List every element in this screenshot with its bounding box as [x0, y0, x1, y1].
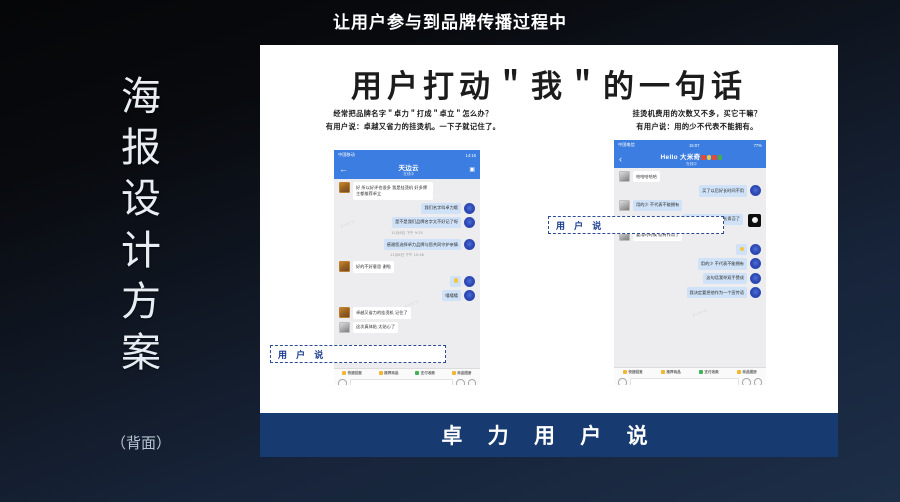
- toolbar-label: 商品图册: [457, 371, 471, 376]
- toolbar-item-catalog[interactable]: 商品图册: [737, 370, 757, 375]
- message-input-right[interactable]: [630, 378, 740, 385]
- brand-avatar: [464, 203, 475, 214]
- message-text: 用的少 不代表不能拥有: [633, 200, 682, 211]
- message-text: 是不是我们品牌名字太不好记了呀: [392, 217, 461, 228]
- toolbar-label: 快捷回复: [628, 370, 642, 375]
- chat-area-right: 卓力用户说 卓力用户说 哈哈哈哈哈 买了以后好长时间不用 用的少 不代表不能拥有…: [614, 171, 766, 367]
- message-text: 用的少 不代表不能拥有: [698, 258, 747, 269]
- caption-right-line1: 挂烫机费用的次数又不多，买它干嘛？: [572, 107, 822, 120]
- chat-message-row: 买了以后好长时间不用: [619, 185, 761, 196]
- emoji-icon[interactable]: [742, 378, 751, 385]
- chat-message-row: 这句话我举双手赞成: [619, 273, 761, 284]
- vertical-title-char: 计: [96, 226, 186, 277]
- status-carrier: 中国移动: [338, 152, 355, 158]
- callout-right: 用 户 说: [548, 216, 724, 234]
- brand-avatar: [464, 290, 475, 301]
- message-text: 好 所以好评也很多 我是挂烫机 好多博主都推荐卓立: [353, 182, 433, 200]
- voice-icon[interactable]: [618, 378, 627, 385]
- toolbar-label: 支付收款: [704, 370, 718, 375]
- message-text: 好的不好意思 谢啦: [353, 261, 394, 272]
- chat-toolbar-left: 快捷回复 推荐商品 支付收款 商品图册: [334, 368, 480, 377]
- user-avatar: [339, 261, 350, 272]
- status-time: 14:16: [466, 153, 476, 158]
- book-emoji-icon: [707, 155, 712, 160]
- brand-avatar: [464, 239, 475, 250]
- toolbar-label: 商品图册: [742, 370, 756, 375]
- message-text: 哈哈哈哈哈: [633, 171, 660, 182]
- vertical-title-char: 报: [96, 123, 186, 174]
- message-text: 我们名字叫卓力哦: [421, 203, 461, 214]
- toolbar-label: 推荐商品: [384, 371, 398, 376]
- message-text: 我决定要把他作为一个宣传语: [687, 287, 747, 298]
- message-text: 这句话我举双手赞成: [703, 273, 747, 284]
- chat-message-row: 用的少 不代表不能拥有: [619, 258, 761, 269]
- brand-avatar: [750, 287, 761, 298]
- caption-left-line2: 有用户说：卓越又省力的挂烫机。一下子就记住了。: [282, 120, 544, 133]
- brand-avatar: [750, 185, 761, 196]
- toolbar-label: 快捷回复: [348, 371, 362, 376]
- message-text: 买了以后好长时间不用: [699, 185, 747, 196]
- toolbar-item-recommend[interactable]: 推荐商品: [661, 370, 681, 375]
- message-timestamp: 11月6日 下午 10:46: [334, 253, 480, 258]
- message-text: 这次真体贴 太贴心了: [353, 322, 398, 333]
- heart-emoji-icon: [718, 155, 723, 160]
- chat-message-row-highlighted: 用的少 不代表不能拥有: [619, 200, 761, 211]
- slide-heading: 让用户参与到品牌传播过程中: [0, 8, 900, 33]
- chat-message-row: 好的不好意思 谢啦: [339, 261, 475, 272]
- chat-title-left: 天边云: [348, 162, 469, 172]
- voice-icon[interactable]: [338, 379, 347, 385]
- caption-right: 挂烫机费用的次数又不多，买它干嘛？ 有用户说：用的少不代表不能拥有。: [572, 107, 822, 134]
- chat-message-row-highlighted: 卓越又省力的挂烫机 记住了: [339, 307, 475, 318]
- chat-title-text: Hello 大米奇: [661, 154, 701, 161]
- chat-message-row: 感谢您选择卓力品牌与您共同守护亲情: [339, 239, 475, 250]
- nav-bar-left: ← 天边云 在线中 ▣: [334, 160, 480, 179]
- status-battery: 77%: [754, 143, 762, 148]
- toolbar-item-quick-reply[interactable]: 快捷回复: [623, 370, 643, 375]
- ribbon-emoji-icon: [712, 155, 717, 160]
- chat-message-row: 哈哈哈哈哈: [619, 171, 761, 182]
- brand-avatar: [750, 273, 761, 284]
- user-avatar: [619, 200, 630, 211]
- caption-right-line2: 有用户说：用的少不代表不能拥有。: [572, 120, 822, 133]
- brand-avatar: [464, 276, 475, 287]
- gray-avatar: [339, 322, 350, 333]
- user-avatar: [619, 171, 630, 182]
- callout-label: 用 户 说: [271, 348, 333, 361]
- toolbar-label: 推荐商品: [666, 370, 680, 375]
- chat-area-left: 卓力用户说 卓力用户说 好 所以好评也很多 我是挂烫机 好多博主都推荐卓立 我们…: [334, 182, 480, 368]
- poster-panel: 用户打动＂我＂的一句话 经常把品牌名字＂卓力＂打成＂卓立＂怎么办？ 有用户说：卓…: [260, 45, 838, 413]
- message-timestamp: 11月6日 下午 9:25: [334, 231, 480, 236]
- user-avatar: [339, 307, 350, 318]
- photo-thumb[interactable]: [748, 214, 761, 227]
- chat-message-row: 这次真体贴 太贴心了: [339, 322, 475, 333]
- vertical-title-char: 方: [96, 277, 186, 328]
- video-icon[interactable]: ▣: [469, 166, 475, 173]
- chat-message-row: 我决定要把他作为一个宣传语: [619, 287, 761, 298]
- phone-screenshot-right: 中国电信 15:07 77% ‹ Hello 大米奇 在线中 卓力用户说 卓力用…: [614, 140, 766, 385]
- poster-title: 用户打动＂我＂的一句话: [260, 61, 838, 106]
- chat-toolbar-right: 快捷回复 推荐商品 支付收款 商品图册: [614, 367, 766, 376]
- message-text: 感谢您选择卓力品牌与您共同守护亲情: [384, 239, 461, 250]
- toolbar-item-recommend[interactable]: 推荐商品: [379, 371, 399, 376]
- poster-footer-text: 卓 力 用 户 说: [441, 420, 656, 450]
- vertical-title-char: 案: [96, 328, 186, 379]
- slide-root: 让用户参与到品牌传播过程中 海 报 设 计 方 案 （背面） 用户打动＂我＂的一…: [0, 0, 900, 502]
- brand-avatar: [750, 258, 761, 269]
- toolbar-item-catalog[interactable]: 商品图册: [452, 371, 472, 376]
- add-icon[interactable]: [468, 379, 477, 385]
- message-input-left[interactable]: [350, 379, 454, 385]
- caption-left: 经常把品牌名字＂卓力＂打成＂卓立＂怎么办？ 有用户说：卓越又省力的挂烫机。一下子…: [282, 107, 544, 134]
- chat-message-row: 是不是我们品牌名字太不好记了呀: [339, 217, 475, 228]
- toolbar-item-quick-reply[interactable]: 快捷回复: [342, 371, 362, 376]
- chat-subtitle-right: 在线中: [622, 162, 761, 167]
- status-carrier: 中国电信: [618, 142, 635, 148]
- callout-label: 用 户 说: [549, 219, 611, 232]
- poster-footer-bar: 卓 力 用 户 说: [260, 413, 838, 457]
- brand-avatar: [750, 244, 761, 255]
- vertical-title-char: 设: [96, 174, 186, 225]
- chat-message-row: 我们名字叫卓力哦: [339, 203, 475, 214]
- apple-emoji-icon: [701, 155, 706, 160]
- callout-left: 用 户 说: [270, 345, 446, 363]
- vertical-title: 海 报 设 计 方 案: [96, 72, 186, 379]
- status-bar-left: 中国移动 14:16: [334, 150, 480, 160]
- toolbar-item-payment[interactable]: 支付收款: [415, 371, 435, 376]
- message-text: 嘻嘻嘻: [442, 290, 461, 301]
- message-emoji: [736, 244, 748, 255]
- message-text: 卓越又省力的挂烫机 记住了: [353, 307, 411, 318]
- caption-left-line1: 经常把品牌名字＂卓力＂打成＂卓立＂怎么办？: [282, 107, 544, 120]
- chat-input-bar-left: [334, 377, 480, 385]
- nav-bar-right: ‹ Hello 大米奇 在线中: [614, 150, 766, 168]
- chat-message-row: [339, 276, 475, 287]
- chat-message-row: [619, 244, 761, 255]
- emoji-icon[interactable]: [456, 379, 465, 385]
- chat-input-bar-right: [614, 376, 766, 385]
- back-arrow-icon[interactable]: ←: [339, 165, 348, 174]
- status-bar-right: 中国电信 15:07 77%: [614, 140, 766, 150]
- add-icon[interactable]: [754, 378, 763, 385]
- vertical-subtitle: （背面）: [96, 432, 186, 453]
- status-time: 15:07: [689, 143, 699, 148]
- user-avatar: [339, 182, 350, 193]
- vertical-title-char: 海: [96, 72, 186, 123]
- message-emoji: [450, 276, 462, 287]
- chat-message-row: 嘻嘻嘻: [339, 290, 475, 301]
- chat-subtitle-left: 在线中: [348, 172, 469, 177]
- toolbar-item-payment[interactable]: 支付收款: [699, 370, 719, 375]
- brand-avatar: [464, 217, 475, 228]
- toolbar-label: 支付收款: [421, 371, 435, 376]
- chat-title-right: Hello 大米奇: [622, 151, 761, 161]
- chat-message-row: 好 所以好评也很多 我是挂烫机 好多博主都推荐卓立: [339, 182, 475, 200]
